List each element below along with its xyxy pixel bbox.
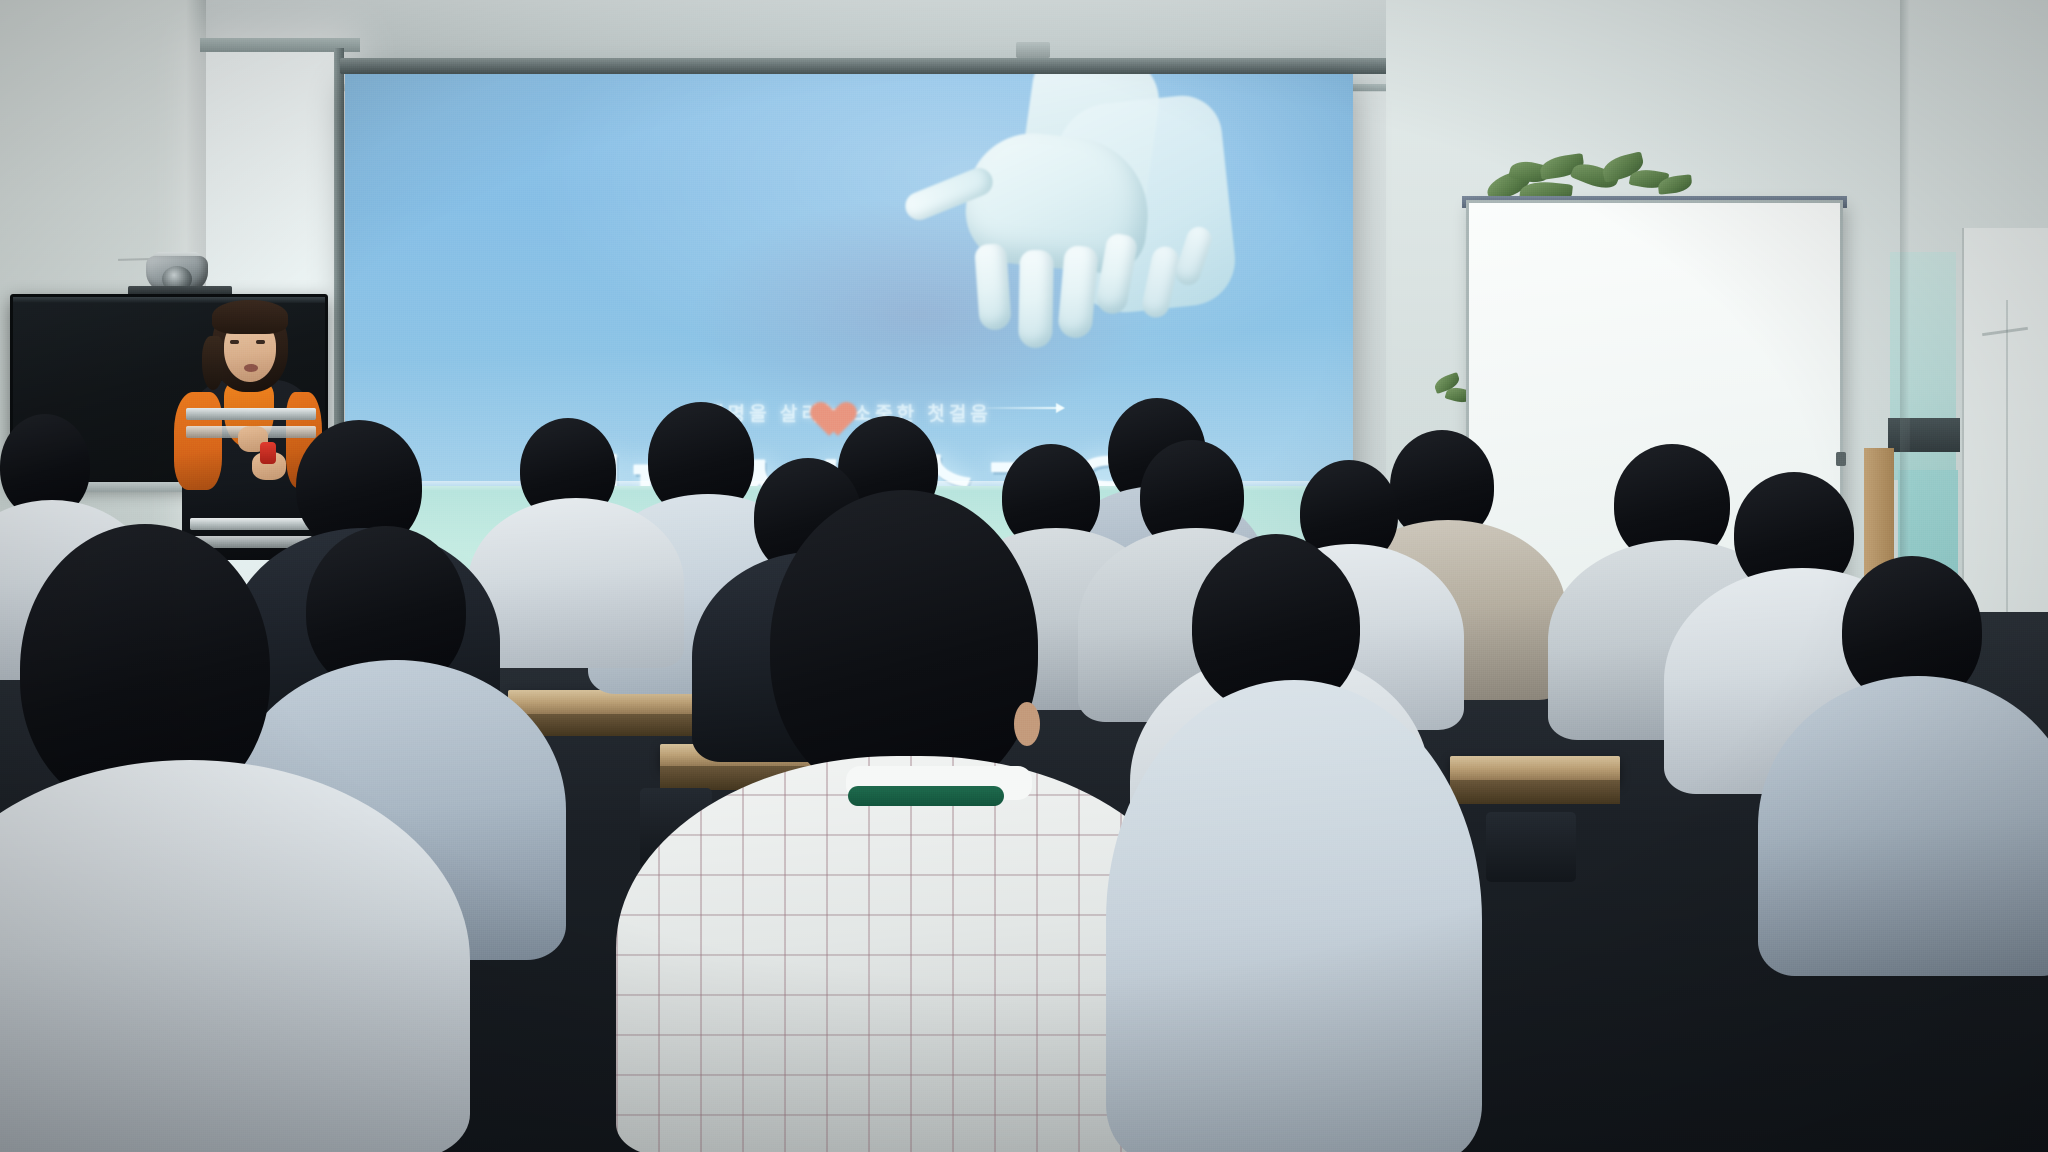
upper-wall-band <box>206 0 1386 64</box>
door-seam <box>2006 300 2008 630</box>
desk-side <box>1450 780 1620 804</box>
photo-scene: 생명을 살리는 소중한 첫걸음 심폐소생술교육 <box>0 0 2048 1152</box>
wall-shelf-upper <box>1888 418 1960 452</box>
chair-back <box>1486 812 1576 882</box>
screen-roller-bar <box>340 58 1400 74</box>
whiteboard-knob <box>1836 452 1846 466</box>
screen-roller-cap <box>1016 42 1050 58</box>
wooden-desk <box>1450 756 1620 782</box>
